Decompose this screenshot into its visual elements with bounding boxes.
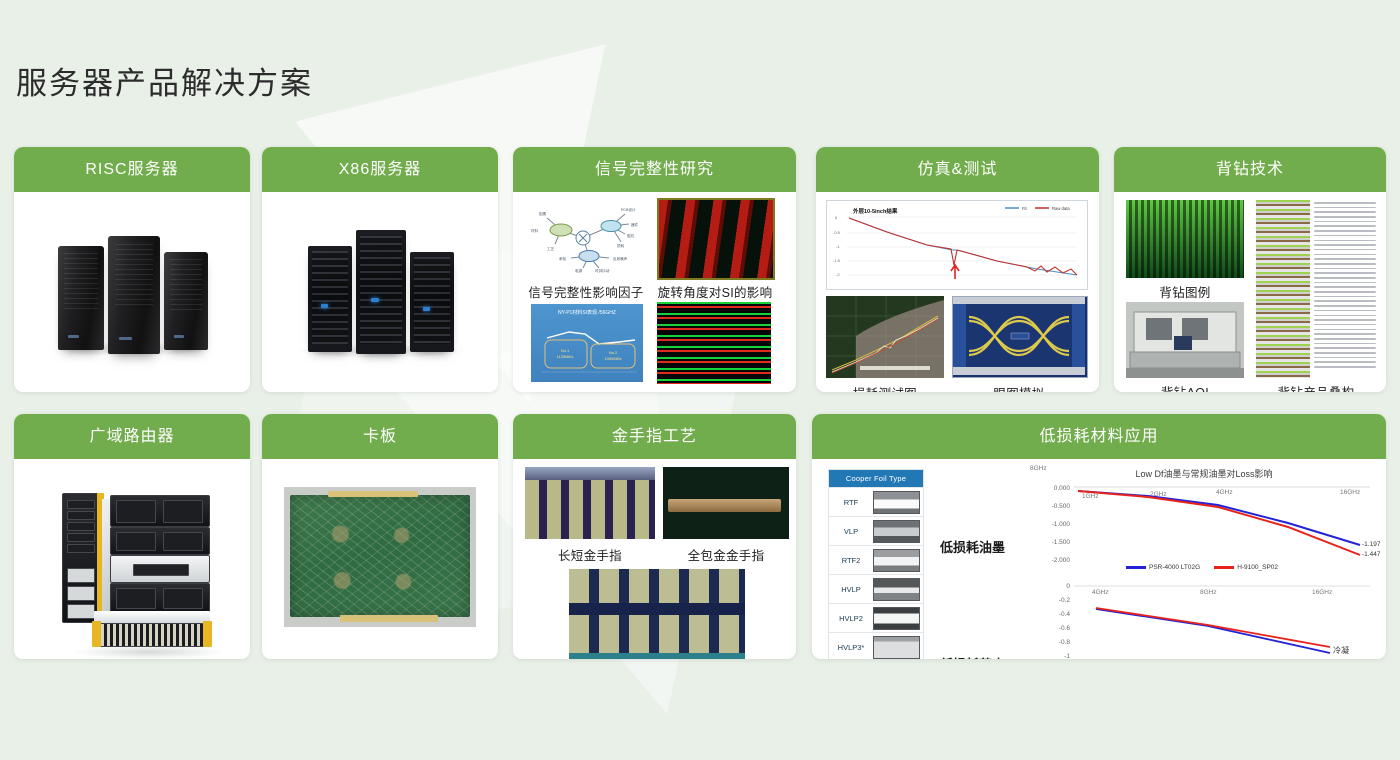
insertion-loss-plot: 外层10-5inch结果 0-0.5-1 -1.5-2 Fit Raw data <box>826 200 1088 290</box>
eye-diagram-image <box>952 296 1088 378</box>
tower-left <box>58 246 104 350</box>
caption-full-gold-finger: 全包金金手指 <box>661 545 791 564</box>
legend-label: H-9100_SP02 <box>1237 564 1278 571</box>
card-simulation-test[interactable]: 仿真&测试 外层10-5inch结果 0-0.5-1 -1.5-2 <box>816 147 1099 392</box>
caption-loss-test: 损耗测试图 <box>826 383 944 392</box>
segment-gap-band <box>569 603 745 615</box>
page-title: 服务器产品解决方案 <box>16 58 313 103</box>
stackup-si-chart-image: NY-P1材料SI表现 /56GHZ No.1 1139Mil/s No.2 1… <box>531 304 643 382</box>
card-title-simulation-test: 仿真&测试 <box>816 147 1099 192</box>
caption-backdrill-stackup: 背钻产品叠构 <box>1252 382 1380 392</box>
storage-chassis-2 <box>110 527 210 555</box>
wan-router-illustration <box>14 459 250 659</box>
chart-legend-low-df-ink: PSR-4000 LT02G H-9100_SP02 <box>1126 564 1278 571</box>
backdrill-stackup-labels <box>1314 202 1376 371</box>
svg-text:1139Mil/s: 1139Mil/s <box>557 354 574 359</box>
tower-center <box>108 236 160 354</box>
router-shadow <box>74 645 224 659</box>
segment-base <box>569 653 745 659</box>
caption-eye-diagram: 眼图模拟 <box>952 383 1086 392</box>
svg-text:Fit: Fit <box>1022 206 1027 211</box>
card-title-wan-router: 广域路由器 <box>14 414 250 459</box>
card-x86-server[interactable]: X86服务器 <box>262 147 498 392</box>
rack-right <box>410 252 454 352</box>
svg-text:外层10-5inch结果: 外层10-5inch结果 <box>853 207 898 215</box>
svg-text:反射噪声: 反射噪声 <box>613 256 628 261</box>
card-card-board[interactable]: 卡板 <box>262 414 498 659</box>
routing-si-image <box>657 302 771 384</box>
backdrill-stackup-image <box>1256 200 1310 378</box>
card-wan-router[interactable]: 广域路由器 <box>14 414 250 659</box>
table-row: HVLP2 <box>829 603 923 632</box>
segmented-gold-finger-image <box>569 569 745 659</box>
card-title-risc-server: RISC服务器 <box>14 147 250 192</box>
card-signal-integrity[interactable]: 信号完整性研究 因素材料工艺 PCB设计器件阻抗 损耗串扰反射噪声 电源时钟抖动 <box>513 147 796 392</box>
caption-long-short-gold-finger: 长短金手指 <box>523 545 657 564</box>
card-body-signal-integrity: 因素材料工艺 PCB设计器件阻抗 损耗串扰反射噪声 电源时钟抖动 信号完整性影响… <box>513 192 796 392</box>
card-body-gold-finger: 长短金手指 全包金金手指 分段金手指 <box>513 459 796 659</box>
storage-chassis-1 <box>110 495 210 527</box>
drive-rail-left <box>92 621 101 647</box>
long-short-gold-finger-image <box>525 467 655 539</box>
gold-plating-band <box>668 499 781 512</box>
card-title-signal-integrity: 信号完整性研究 <box>513 147 796 192</box>
backdrill-example-image <box>1126 200 1244 278</box>
copper-foil-label: HVLP <box>829 585 873 594</box>
svg-text:电源: 电源 <box>575 268 583 273</box>
label-low-loss-chemical: 低损耗药水 <box>940 654 1005 659</box>
table-row: VLP <box>829 516 923 545</box>
risc-server-illustration <box>14 192 250 392</box>
svg-text:No.1: No.1 <box>561 348 570 353</box>
caption-routing-si: 走线方式对SI的影响 <box>653 388 777 392</box>
legend-entry-psr: PSR-4000 LT02G <box>1126 564 1200 571</box>
x86-server-illustration <box>262 192 498 392</box>
svg-text:PCB设计: PCB设计 <box>621 207 636 212</box>
svg-text:工艺: 工艺 <box>547 246 555 251</box>
chart-low-loss-chemical: 0 -0.2 -0.4 -0.6 -0.8 -1 -1.2 4GHz 8GHz … <box>1030 581 1378 659</box>
svg-text:时钟抖动: 时钟抖动 <box>595 268 610 273</box>
caption-backdrill-example: 背钻图例 <box>1124 282 1246 301</box>
table-row: RTF2 <box>829 545 923 574</box>
pcb-gold-edge-top <box>328 491 418 497</box>
card-body-low-loss-material: Cooper Foil Type RTF VLP RTF2 HVLP HVLP2 <box>812 459 1386 659</box>
drive-rail-right <box>203 621 212 647</box>
pcb-gold-edge-bottom <box>340 615 438 622</box>
card-body-x86-server <box>262 192 498 392</box>
copper-foil-label: VLP <box>829 527 873 536</box>
loss-test-image <box>826 296 944 378</box>
card-body-wan-router <box>14 459 250 659</box>
rack-center <box>356 230 406 354</box>
copper-foil-label: RTF2 <box>829 556 873 565</box>
card-backdrill[interactable]: 背钻技术 背钻图例 背钻AOI 背钻产品叠构 <box>1114 147 1386 392</box>
svg-text:材料: 材料 <box>531 228 539 233</box>
rotation-angle-si-image <box>657 198 775 280</box>
copper-foil-sample <box>873 636 920 659</box>
card-title-x86-server: X86服务器 <box>262 147 498 192</box>
copper-foil-sample <box>873 520 920 543</box>
series-end-label-h9100: -1.447 <box>1362 551 1380 558</box>
copper-foil-label: RTF <box>829 498 873 507</box>
label-low-loss-ink: 低损耗油墨 <box>940 537 1005 556</box>
legend-label: PSR-4000 LT02G <box>1149 564 1200 571</box>
copper-foil-sample <box>873 578 920 601</box>
si-mindmap-image: 因素材料工艺 PCB设计器件阻抗 损耗串扰反射噪声 电源时钟抖动 <box>525 200 647 274</box>
copper-foil-label: HVLP2 <box>829 614 873 623</box>
tower-right <box>164 252 208 350</box>
chart-annotation-condensation: 冷凝 <box>1333 645 1349 656</box>
card-title-low-loss-material: 低损耗材料应用 <box>812 414 1386 459</box>
legend-entry-h9100: H-9100_SP02 <box>1214 564 1278 571</box>
caption-rotation-angle: 旋转角度对SI的影响 <box>653 282 777 301</box>
rack-left <box>308 246 352 352</box>
drive-bank <box>100 623 206 647</box>
card-low-loss-material[interactable]: 低损耗材料应用 Cooper Foil Type RTF VLP RTF2 HV… <box>812 414 1386 659</box>
copper-foil-sample <box>873 607 920 630</box>
drive-bank-top <box>94 611 210 623</box>
card-title-backdrill: 背钻技术 <box>1114 147 1386 192</box>
card-body-simulation-test: 外层10-5inch结果 0-0.5-1 -1.5-2 Fit Raw data <box>816 192 1099 392</box>
caption-backdrill-aoi: 背钻AOI <box>1124 382 1246 392</box>
table-row: RTF <box>829 487 923 516</box>
copper-foil-table[interactable]: Cooper Foil Type RTF VLP RTF2 HVLP HVLP2 <box>828 469 924 659</box>
card-risc-server[interactable]: RISC服务器 <box>14 147 250 392</box>
svg-text:损耗: 损耗 <box>617 243 625 248</box>
svg-text:1059Mil/s: 1059Mil/s <box>604 356 621 361</box>
copper-foil-table-header: Cooper Foil Type <box>829 470 923 487</box>
table-row: HVLP3* <box>829 632 923 659</box>
gold-finger-substrate-top <box>525 467 655 480</box>
pcb-photo-frame <box>284 487 476 627</box>
svg-text:-1: -1 <box>836 244 840 249</box>
svg-text:0: 0 <box>835 215 838 220</box>
card-title-card-board: 卡板 <box>262 414 498 459</box>
card-body-risc-server <box>14 192 250 392</box>
svg-text:阻抗: 阻抗 <box>627 233 635 238</box>
svg-text:-1.5: -1.5 <box>833 258 841 263</box>
svg-text:Raw data: Raw data <box>1052 206 1070 211</box>
caption-si-factors: 信号完整性影响因子 <box>521 282 651 301</box>
svg-text:No.2: No.2 <box>609 350 618 355</box>
card-gold-finger[interactable]: 金手指工艺 长短金手指 全包金金手指 分段金手指 <box>513 414 796 659</box>
copper-foil-label: HVLP3* <box>829 643 873 652</box>
svg-text:-0.5: -0.5 <box>833 230 841 235</box>
svg-text:串扰: 串扰 <box>559 256 567 261</box>
card-body-backdrill: 背钻图例 背钻AOI 背钻产品叠构 <box>1114 192 1386 392</box>
pcb-board <box>290 495 470 617</box>
storage-chassis-3 <box>110 555 210 583</box>
card-title-gold-finger: 金手指工艺 <box>513 414 796 459</box>
copper-foil-sample <box>873 491 920 514</box>
card-body-card-board <box>262 459 498 659</box>
storage-chassis-4 <box>110 583 210 613</box>
full-gold-plated-finger-image <box>663 467 789 539</box>
svg-text:器件: 器件 <box>631 222 639 227</box>
caption-stackup-si: 叠构对SI的影响 <box>525 388 649 392</box>
copper-foil-sample <box>873 549 920 572</box>
svg-text:NY-P1材料SI表现 /56GHZ: NY-P1材料SI表现 /56GHZ <box>558 309 616 316</box>
svg-text:-2: -2 <box>836 272 840 277</box>
svg-text:因素: 因素 <box>539 211 547 216</box>
table-row: HVLP <box>829 574 923 603</box>
chart-low-df-ink: Low Df油墨与常规油墨对Loss影响 0.000 -0.500 -1.000… <box>1030 465 1378 577</box>
backdrill-aoi-image <box>1126 302 1244 378</box>
series-end-label-psr: -1.197 <box>1362 541 1380 548</box>
